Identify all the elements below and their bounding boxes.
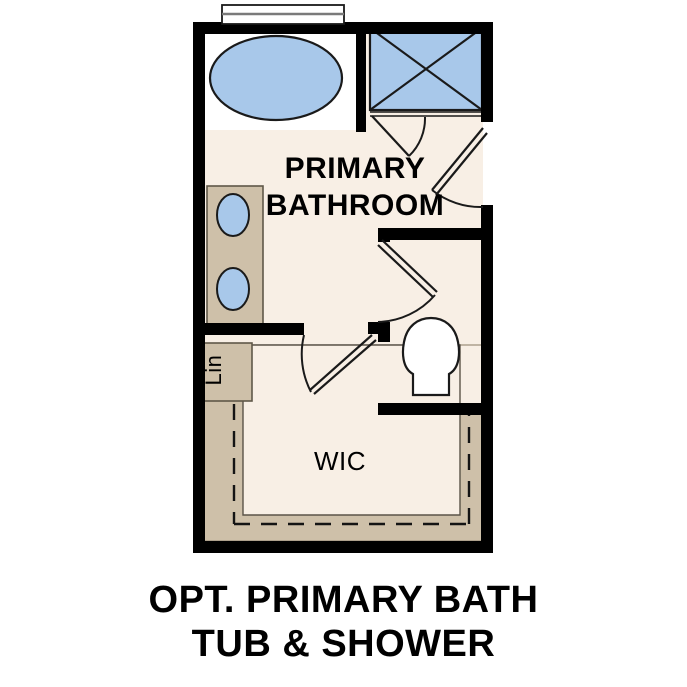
floor-plan-root: PRIMARY BATHROOM WIC Lin OPT. PRIMARY BA… [0, 0, 687, 687]
wall-right-upper [481, 22, 493, 122]
wall-bottom-exterior [193, 541, 493, 553]
wall-toilet-room-top [378, 228, 483, 240]
wall-toilet-room-bottom [378, 403, 483, 415]
primary-bathroom-label-line1: PRIMARY [285, 152, 426, 185]
plan-caption: OPT. PRIMARY BATH TUB & SHOWER [0, 578, 687, 666]
linen-closet-label: Lin [201, 355, 226, 386]
wall-top-right [363, 22, 493, 34]
wall-left-exterior [193, 22, 205, 553]
wall-toilet-left-stub-top [378, 228, 390, 242]
bathtub-icon [210, 36, 342, 120]
wall-tub-alcove-partition [356, 22, 366, 132]
wall-bath-wic-divider [193, 323, 304, 335]
primary-bathroom-label-line2: BATHROOM [266, 189, 444, 222]
wall-right-lower [481, 205, 493, 553]
vanity-sink-lower-icon [217, 268, 249, 310]
wic-label: WIC [314, 446, 366, 476]
vanity-sink-upper-icon [217, 194, 249, 236]
caption-line-1: OPT. PRIMARY BATH [0, 578, 687, 622]
caption-line-2: TUB & SHOWER [0, 622, 687, 666]
wall-toilet-left-jamb [368, 322, 390, 334]
